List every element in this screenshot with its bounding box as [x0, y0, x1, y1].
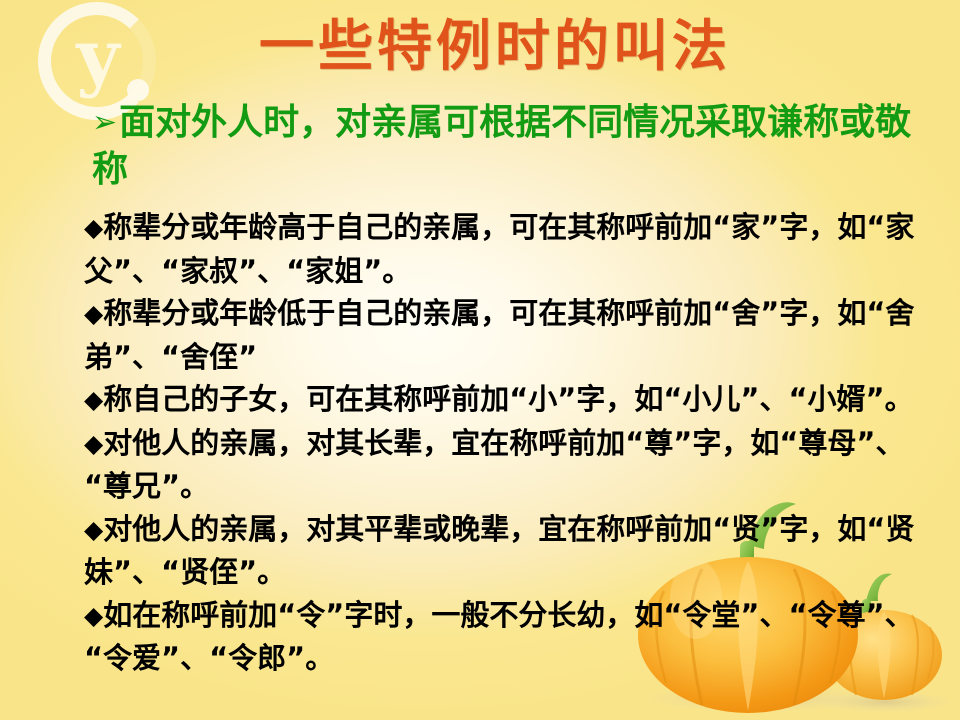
list-item: ◆对他人的亲属，对其平辈或晚辈，宜在称呼前加“贤”字，如“贤妹”、“贤侄”。 — [84, 508, 940, 594]
subtitle-line: ➢面对外人时，对亲属可根据不同情况采取谦称或敬称 — [92, 99, 922, 193]
list-item: ◆如在称呼前加“令”字时，一般不分长幼，如“令堂”、“令尊”、“令爱”、“令郎”… — [84, 594, 940, 680]
bullet-list: ◆称辈分或年龄高于自己的亲属，可在其称呼前加“家”字，如“家父”、“家叔”、“家… — [84, 206, 940, 680]
subtitle-text: 面对外人时，对亲属可根据不同情况采取谦称或敬称 — [92, 102, 911, 190]
list-item-text: 称自己的子女，可在其称呼前加“小”字，如“小儿”、“小婿”。 — [103, 382, 913, 416]
presentation-slide: y — [0, 0, 960, 720]
list-item: ◆称自己的子女，可在其称呼前加“小”字，如“小儿”、“小婿”。 — [84, 378, 940, 422]
list-item: ◆称辈分或年龄高于自己的亲属，可在其称呼前加“家”字，如“家父”、“家叔”、“家… — [84, 206, 940, 292]
list-item: ◆称辈分或年龄低于自己的亲属，可在其称呼前加“舍”字，如“舍弟”、“舍侄” — [84, 292, 940, 378]
diamond-bullet-icon: ◆ — [84, 429, 103, 458]
page-title: 一些特例时的叫法 — [185, 14, 805, 78]
diamond-bullet-icon: ◆ — [84, 299, 103, 328]
diamond-bullet-icon: ◆ — [84, 601, 103, 630]
diamond-bullet-icon: ◆ — [84, 515, 103, 544]
list-item-text: 称辈分或年龄低于自己的亲属，可在其称呼前加“舍”字，如“舍弟”、“舍侄” — [84, 296, 914, 374]
list-item-text: 对他人的亲属，对其平辈或晚辈，宜在称呼前加“贤”字，如“贤妹”、“贤侄”。 — [84, 512, 914, 590]
diamond-bullet-icon: ◆ — [84, 213, 103, 242]
diamond-bullet-icon: ◆ — [84, 385, 103, 414]
arrow-bullet-icon: ➢ — [92, 105, 117, 140]
slide-content: 一些特例时的叫法 ➢面对外人时，对亲属可根据不同情况采取谦称或敬称 ◆称辈分或年… — [0, 0, 960, 720]
list-item: ◆对他人的亲属，对其长辈，宜在称呼前加“尊”字，如“尊母”、“尊兄”。 — [84, 422, 940, 508]
list-item-text: 如在称呼前加“令”字时，一般不分长幼，如“令堂”、“令尊”、“令爱”、“令郎”。 — [84, 598, 914, 676]
list-item-text: 对他人的亲属，对其长辈，宜在称呼前加“尊”字，如“尊母”、“尊兄”。 — [84, 426, 904, 504]
list-item-text: 称辈分或年龄高于自己的亲属，可在其称呼前加“家”字，如“家父”、“家叔”、“家姐… — [84, 210, 914, 288]
